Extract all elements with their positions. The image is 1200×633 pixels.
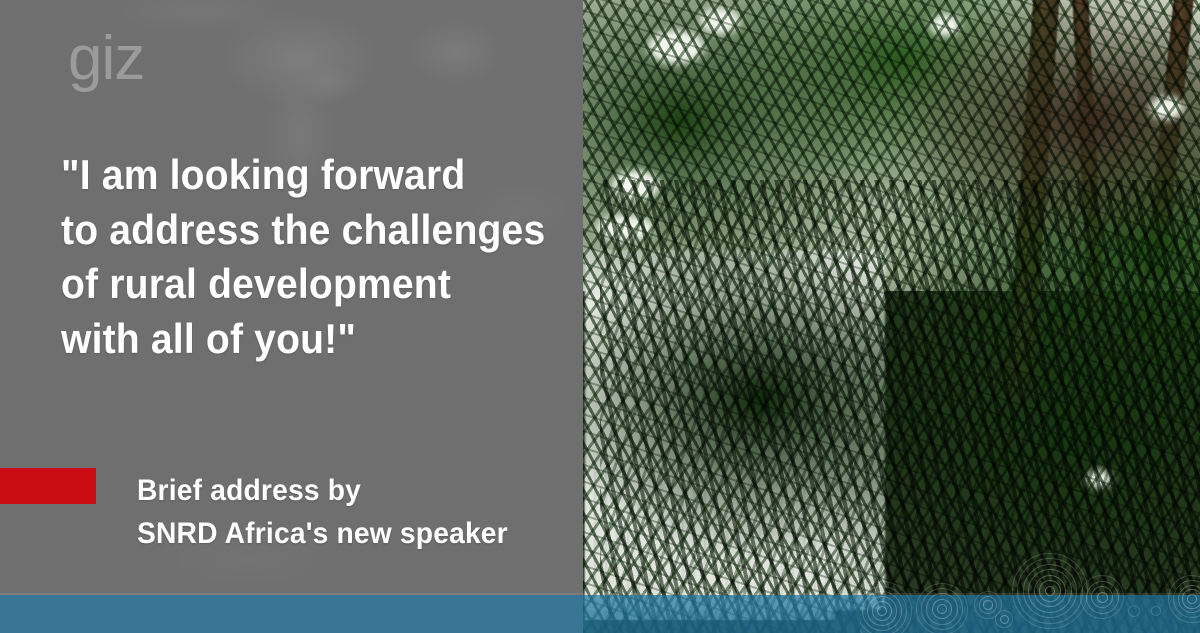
quote-text: "I am looking forward to address the cha…: [61, 148, 526, 366]
red-accent-block: [0, 468, 96, 504]
speaker-portrait: [600, 0, 1200, 633]
panel-right-edge-fade: [567, 0, 583, 633]
bottom-color-bar: [0, 595, 1200, 633]
quote-line: to address the challenges: [61, 203, 526, 258]
quote-line: with all of you!": [61, 312, 526, 367]
video-title-card: giz "I am looking forward to address the…: [0, 0, 1200, 633]
caption-text: Brief address by SNRD Africa's new speak…: [137, 470, 551, 555]
title-panel: giz "I am looking forward to address the…: [0, 0, 583, 633]
caption-line: Brief address by: [137, 470, 551, 513]
quote-line: of rural development: [61, 257, 526, 312]
giz-logo-watermark: giz: [68, 28, 144, 90]
quote-line: "I am looking forward: [61, 148, 526, 203]
caption-line: SNRD Africa's new speaker: [137, 513, 551, 556]
